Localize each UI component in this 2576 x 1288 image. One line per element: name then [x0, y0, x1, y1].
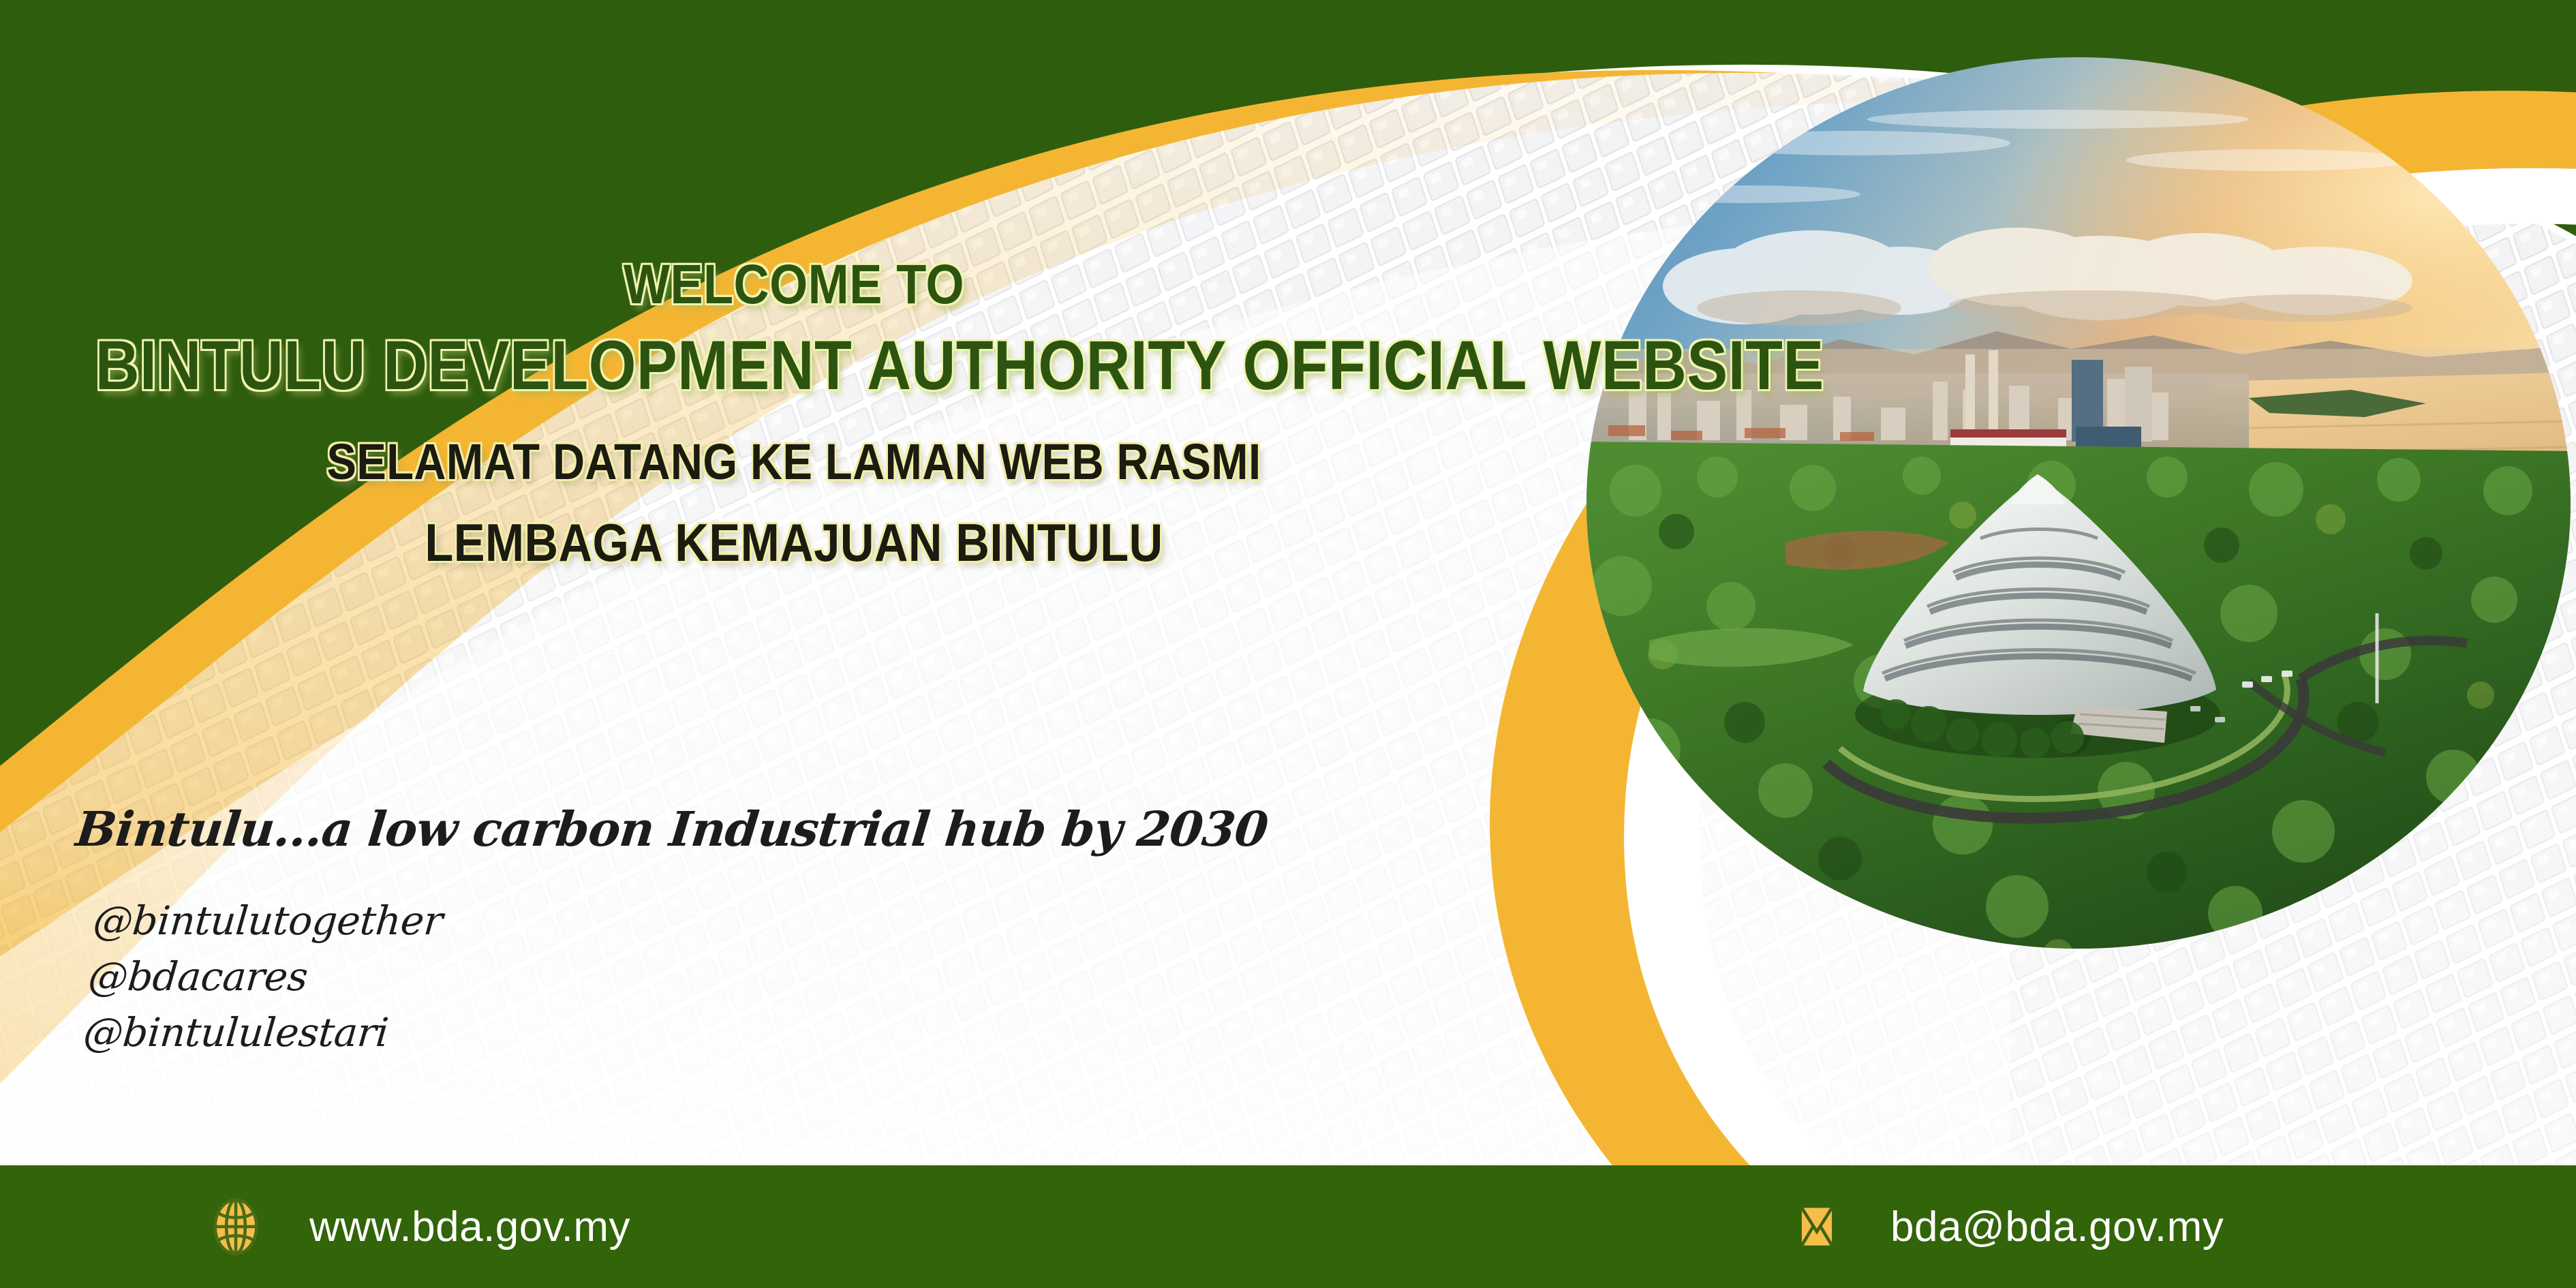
globe-icon [204, 1195, 267, 1258]
footer-bar: www.bda.gov.my bda@bda.gov.my [0, 1165, 2576, 1288]
handle-bintululestari[interactable]: @bintululestari [81, 1005, 435, 1060]
envelope-icon [1785, 1195, 1848, 1258]
social-handles: @bintulutogether @bdacares @bintululesta… [81, 893, 445, 1060]
banner-artwork [0, 0, 2576, 1288]
email-label: bda@bda.gov.my [1890, 1203, 2224, 1251]
footer-email-item[interactable]: bda@bda.gov.my [1785, 1165, 2224, 1288]
bda-welcome-banner: WELCOME TO BINTULU DEVELOPMENT AUTHORITY… [0, 0, 2576, 1288]
handle-bdacares[interactable]: @bdacares [86, 949, 440, 1005]
handle-bintulutogether[interactable]: @bintulutogether [91, 893, 445, 949]
website-label: www.bda.gov.my [309, 1203, 630, 1251]
footer-website-item[interactable]: www.bda.gov.my [204, 1165, 630, 1288]
tagline: Bintulu...a low carbon Industrial hub by… [74, 801, 1271, 857]
